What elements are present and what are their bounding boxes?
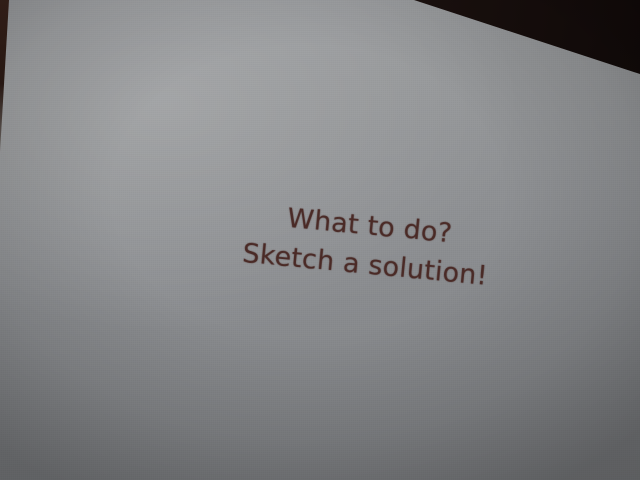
projected-slide-photo: What to do? Sketch a solution! [0,0,640,480]
